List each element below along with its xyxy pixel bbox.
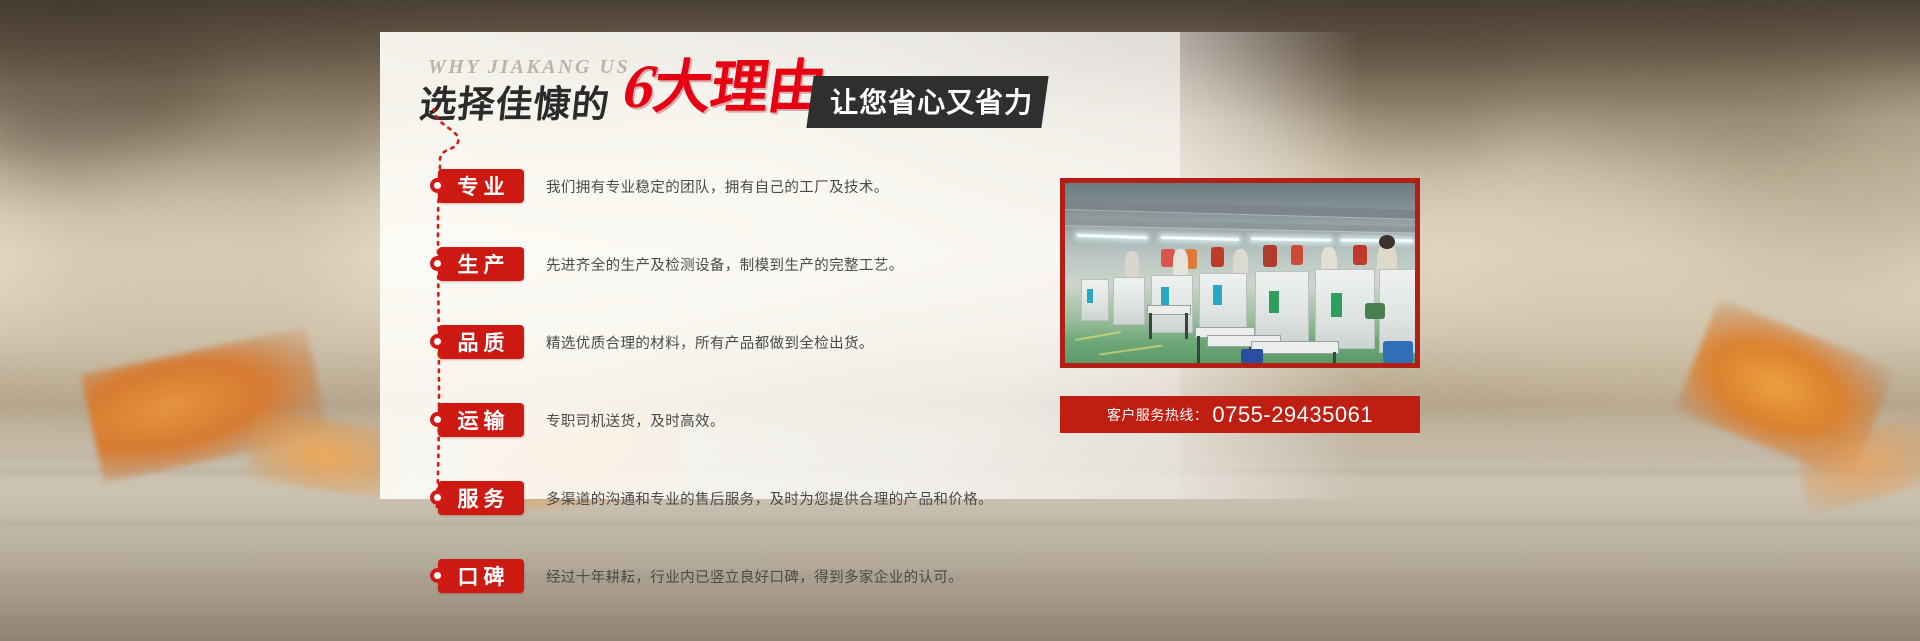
list-item[interactable]: 服务 多渠道的沟通和专业的售后服务，及时为您提供合理的产品和价格。 — [438, 472, 1138, 524]
headline-dark-band: 让您省心又省力 — [806, 76, 1048, 128]
headline-dark-band-text: 让您省心又省力 — [830, 81, 1033, 121]
reason-badge: 口碑 — [438, 559, 524, 593]
factory-photo — [1065, 183, 1415, 363]
reason-description: 多渠道的沟通和专业的售后服务，及时为您提供合理的产品和价格。 — [546, 488, 993, 509]
hotline-banner: 客户服务热线： 0755-29435061 — [1060, 396, 1420, 433]
list-item[interactable]: 口碑 经过十年耕耘，行业内已竖立良好口碑，得到多家企业的认可。 — [438, 550, 1138, 602]
bullet-node-icon — [430, 568, 445, 583]
headline-emphasis: 6大理由 — [620, 58, 829, 117]
reason-badge: 生产 — [438, 247, 524, 281]
reason-badge: 运输 — [438, 403, 524, 437]
bullet-node-icon — [430, 178, 445, 193]
bullet-node-icon — [430, 490, 445, 505]
reason-description: 先进齐全的生产及检测设备，制模到生产的完整工艺。 — [546, 254, 904, 275]
bullet-node-icon — [430, 256, 445, 271]
bullet-node-icon — [430, 412, 445, 427]
reason-description: 我们拥有专业稳定的团队，拥有自己的工厂及技术。 — [546, 176, 889, 197]
reasons-list: 专业 我们拥有专业稳定的团队，拥有自己的工厂及技术。 生产 先进齐全的生产及检测… — [438, 160, 1138, 628]
list-item[interactable]: 专业 我们拥有专业稳定的团队，拥有自己的工厂及技术。 — [438, 160, 1138, 212]
list-item[interactable]: 运输 专职司机送货，及时高效。 — [438, 394, 1138, 446]
factory-photo-card — [1060, 178, 1420, 368]
bullet-node-icon — [430, 334, 445, 349]
headline-red-text: 大理由 — [649, 55, 829, 120]
list-item[interactable]: 生产 先进齐全的生产及检测设备，制模到生产的完整工艺。 — [438, 238, 1138, 290]
reason-badge: 品质 — [438, 325, 524, 359]
banner-stage: WHY JIAKANG US 选择佳慷的 6大理由 让您省心又省力 专业 我们拥… — [0, 0, 1920, 641]
hotline-label: 客户服务热线： — [1107, 405, 1209, 425]
reason-description: 精选优质合理的材料，所有产品都做到全检出货。 — [546, 332, 874, 353]
reason-description: 经过十年耕耘，行业内已竖立良好口碑，得到多家企业的认可。 — [546, 566, 963, 587]
reason-description: 专职司机送货，及时高效。 — [546, 410, 725, 431]
reason-badge: 专业 — [438, 169, 524, 203]
hotline-number: 0755-29435061 — [1212, 402, 1373, 428]
reason-badge: 服务 — [438, 481, 524, 515]
list-item[interactable]: 品质 精选优质合理的材料，所有产品都做到全检出货。 — [438, 316, 1138, 368]
